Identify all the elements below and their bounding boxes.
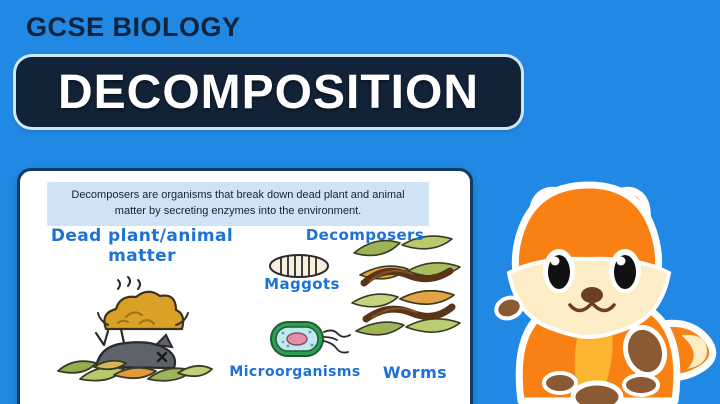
bacterium-microorganism-illustration — [268, 317, 354, 361]
definition-callout: Decomposers are organisms that break dow… — [47, 182, 429, 226]
label-maggots: Maggots — [256, 275, 348, 293]
pebble-bottom-left — [540, 370, 580, 396]
subject-label: GCSE BIOLOGY — [26, 12, 241, 43]
pebble-left — [492, 295, 526, 321]
label-dead-plant-animal-matter: Dead plant/animal matter — [42, 227, 242, 266]
label-worms: Worms — [372, 363, 458, 382]
label-decomposers: Decomposers — [295, 226, 435, 244]
label-microorganisms: Microorganisms — [220, 364, 370, 380]
title-banner: DECOMPOSITION — [16, 57, 521, 127]
fox-mascot — [485, 155, 720, 404]
pebble-bottom-middle — [620, 372, 662, 398]
content-card: Decomposers are organisms that break dow… — [17, 168, 473, 404]
page-title: DECOMPOSITION — [58, 65, 479, 120]
earthworms-in-leaf-litter-illustration — [350, 227, 466, 357]
thumbnail-canvas: GCSE BIOLOGY DECOMPOSITION Decomposers a… — [0, 0, 720, 404]
dead-animal-on-leaf-pile-illustration — [44, 275, 224, 385]
